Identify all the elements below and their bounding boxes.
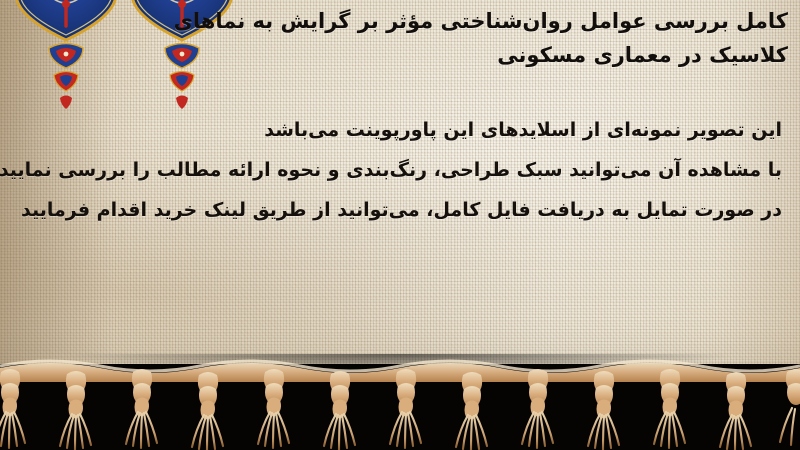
slide-body-line-3: در صورت تمایل به دریافت فایل کامل، می‌تو… <box>92 190 782 230</box>
slide-title-line-2: کلاسیک در معماری مسکونی <box>228 38 788 72</box>
slide-title-line-1: کامل بررسی عوامل روان‌شناختی مؤثر بر گرا… <box>228 4 788 38</box>
persian-medallion-ornament-left <box>10 0 122 110</box>
slide-body-line-2: با مشاهده آن می‌توانید سبک طراحی، رنگ‌بن… <box>92 150 782 190</box>
carpet-knotted-fringe <box>0 342 800 450</box>
slide-body-line-1: این تصویر نمونه‌ای از اسلایدهای این پاور… <box>92 110 782 150</box>
slide-canvas: کامل بررسی عوامل روان‌شناختی مؤثر بر گرا… <box>0 0 800 450</box>
slide-title: کامل بررسی عوامل روان‌شناختی مؤثر بر گرا… <box>228 4 788 72</box>
slide-body: این تصویر نمونه‌ای از اسلایدهای این پاور… <box>92 110 782 230</box>
